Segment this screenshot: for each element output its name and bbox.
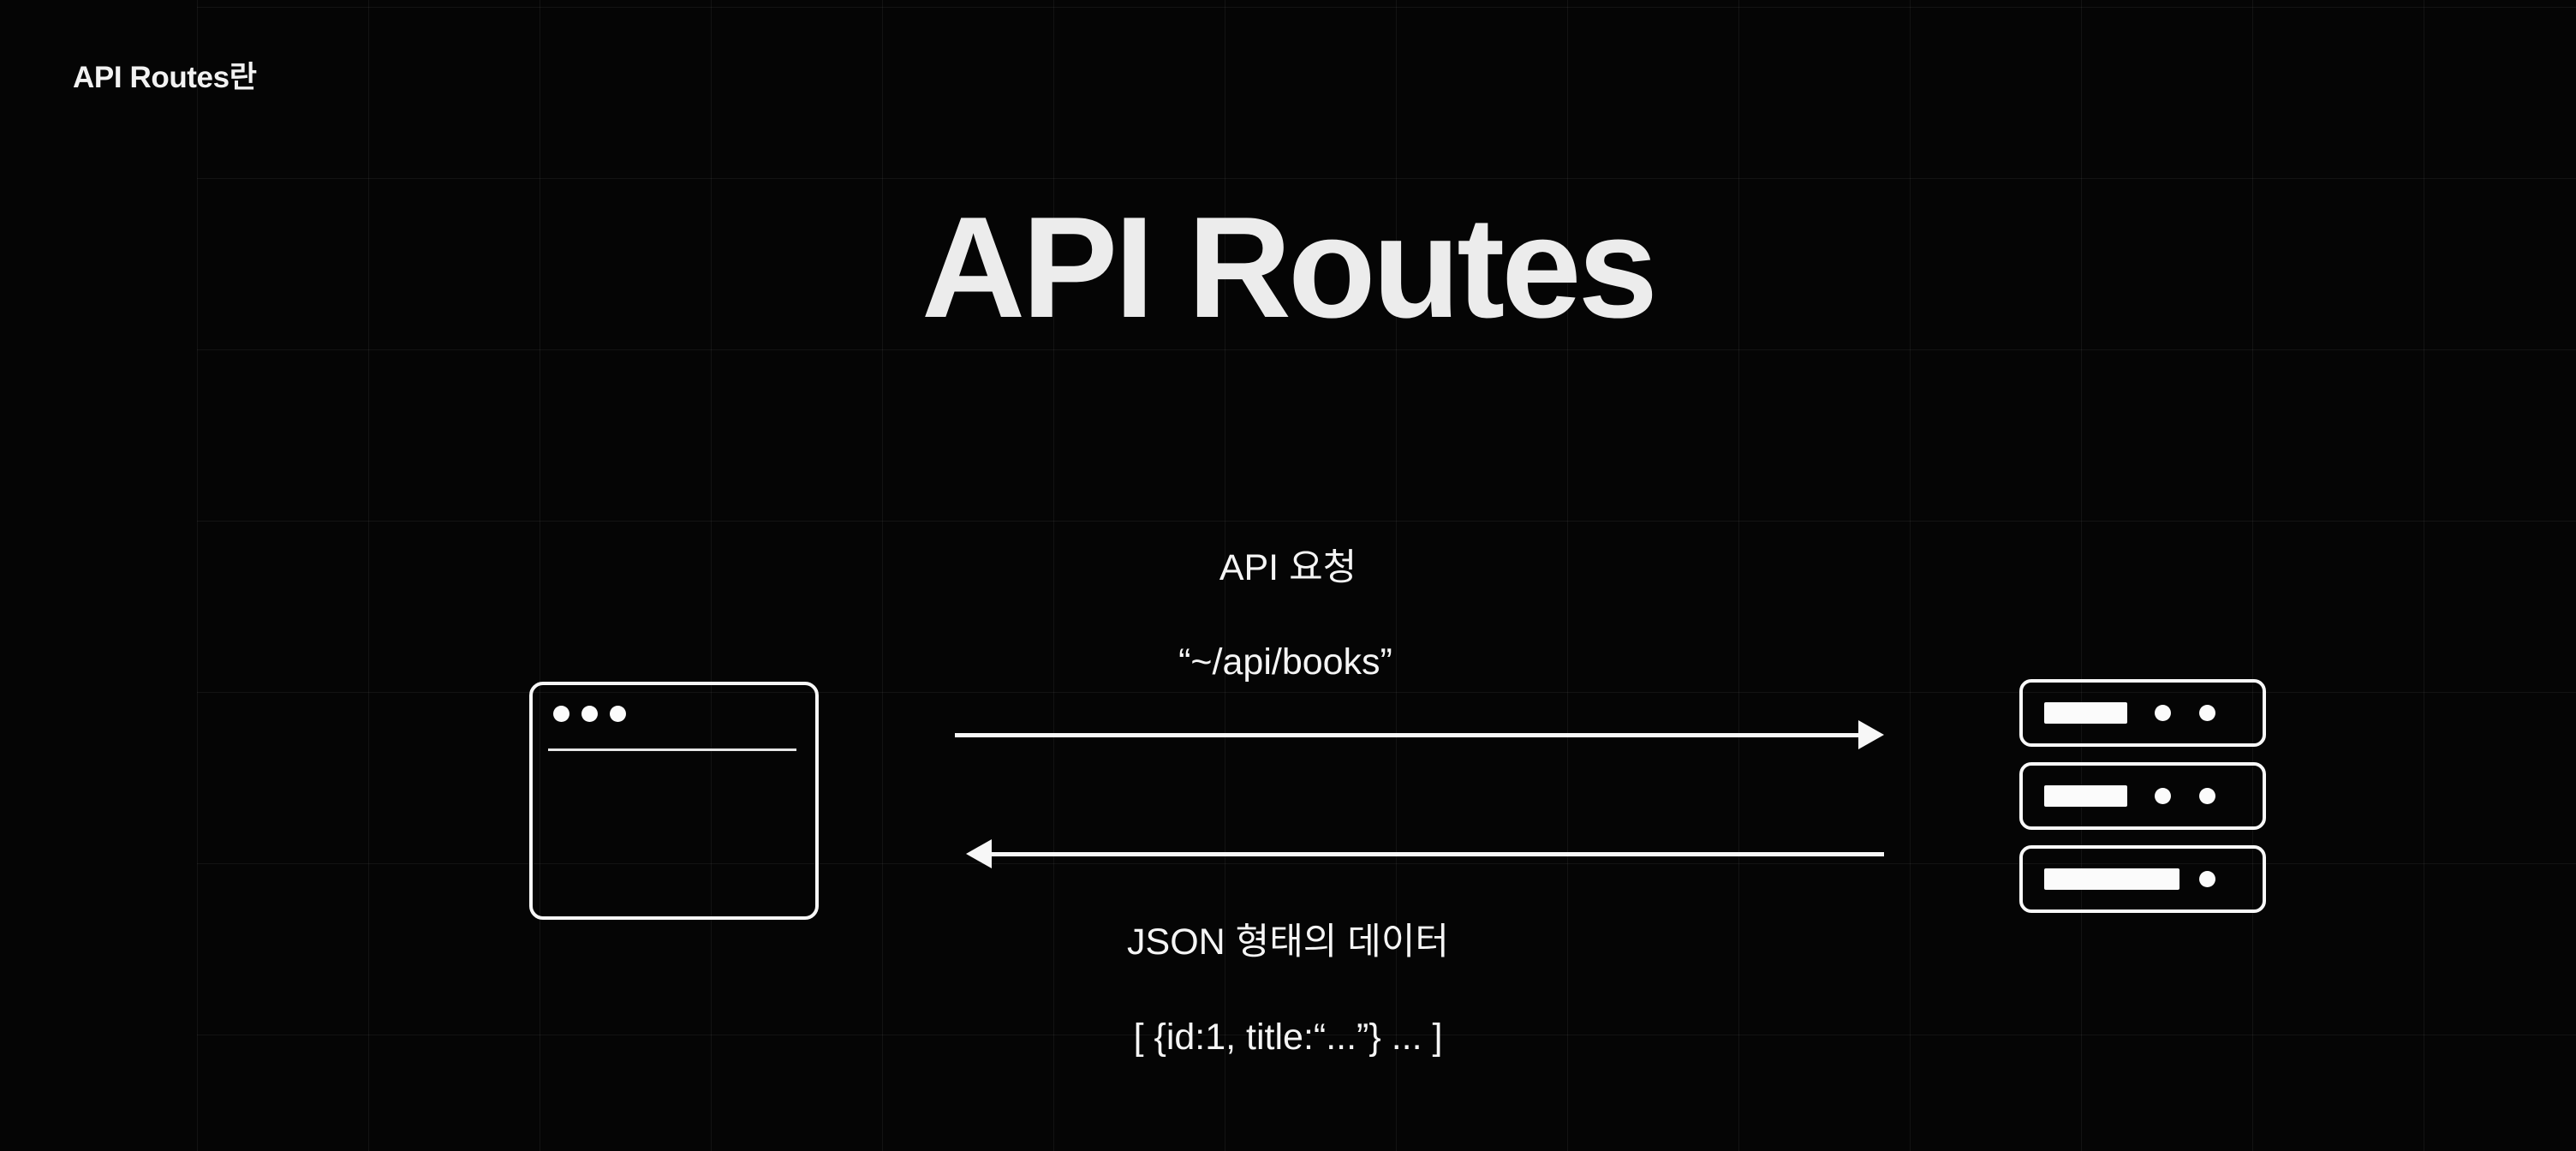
server-rack-icon: [2019, 679, 2266, 914]
server-bar-icon: [2044, 785, 2127, 807]
response-body-label: [ {id:1, title:“...”} ... ]: [0, 1016, 2576, 1060]
page-title: API Routes: [0, 195, 2576, 339]
arrow-line: [955, 733, 1858, 737]
server-led-icon: [2199, 788, 2215, 804]
browser-toolbar-divider: [548, 748, 796, 751]
server-unit: [2019, 845, 2266, 913]
browser-dot-close-icon: [553, 706, 569, 722]
request-label: API 요청: [0, 546, 2576, 591]
request-arrow-icon: [955, 725, 1884, 745]
browser-dot-minimize-icon: [581, 706, 598, 722]
slide-header-title: API Routes란: [73, 53, 257, 97]
request-path-label: “~/api/books”: [0, 641, 2573, 685]
arrow-head-left-icon: [966, 839, 992, 868]
server-led-icon: [2155, 788, 2171, 804]
arrow-head-right-icon: [1858, 720, 1884, 749]
server-bar-icon: [2044, 868, 2179, 890]
server-unit: [2019, 762, 2266, 830]
server-led-icon: [2199, 871, 2215, 887]
browser-dot-maximize-icon: [610, 706, 626, 722]
server-unit: [2019, 679, 2266, 747]
browser-window-icon: [529, 682, 819, 920]
response-arrow-icon: [966, 844, 1884, 864]
server-led-icon: [2155, 705, 2171, 721]
slide-stage: API Routes란 API Routes API 요청 “~/api/boo…: [0, 0, 2576, 1151]
server-led-icon: [2199, 705, 2215, 721]
browser-traffic-lights: [553, 706, 626, 722]
response-label: JSON 형태의 데이터: [0, 921, 2576, 965]
arrow-line: [992, 852, 1884, 856]
server-bar-icon: [2044, 702, 2127, 724]
